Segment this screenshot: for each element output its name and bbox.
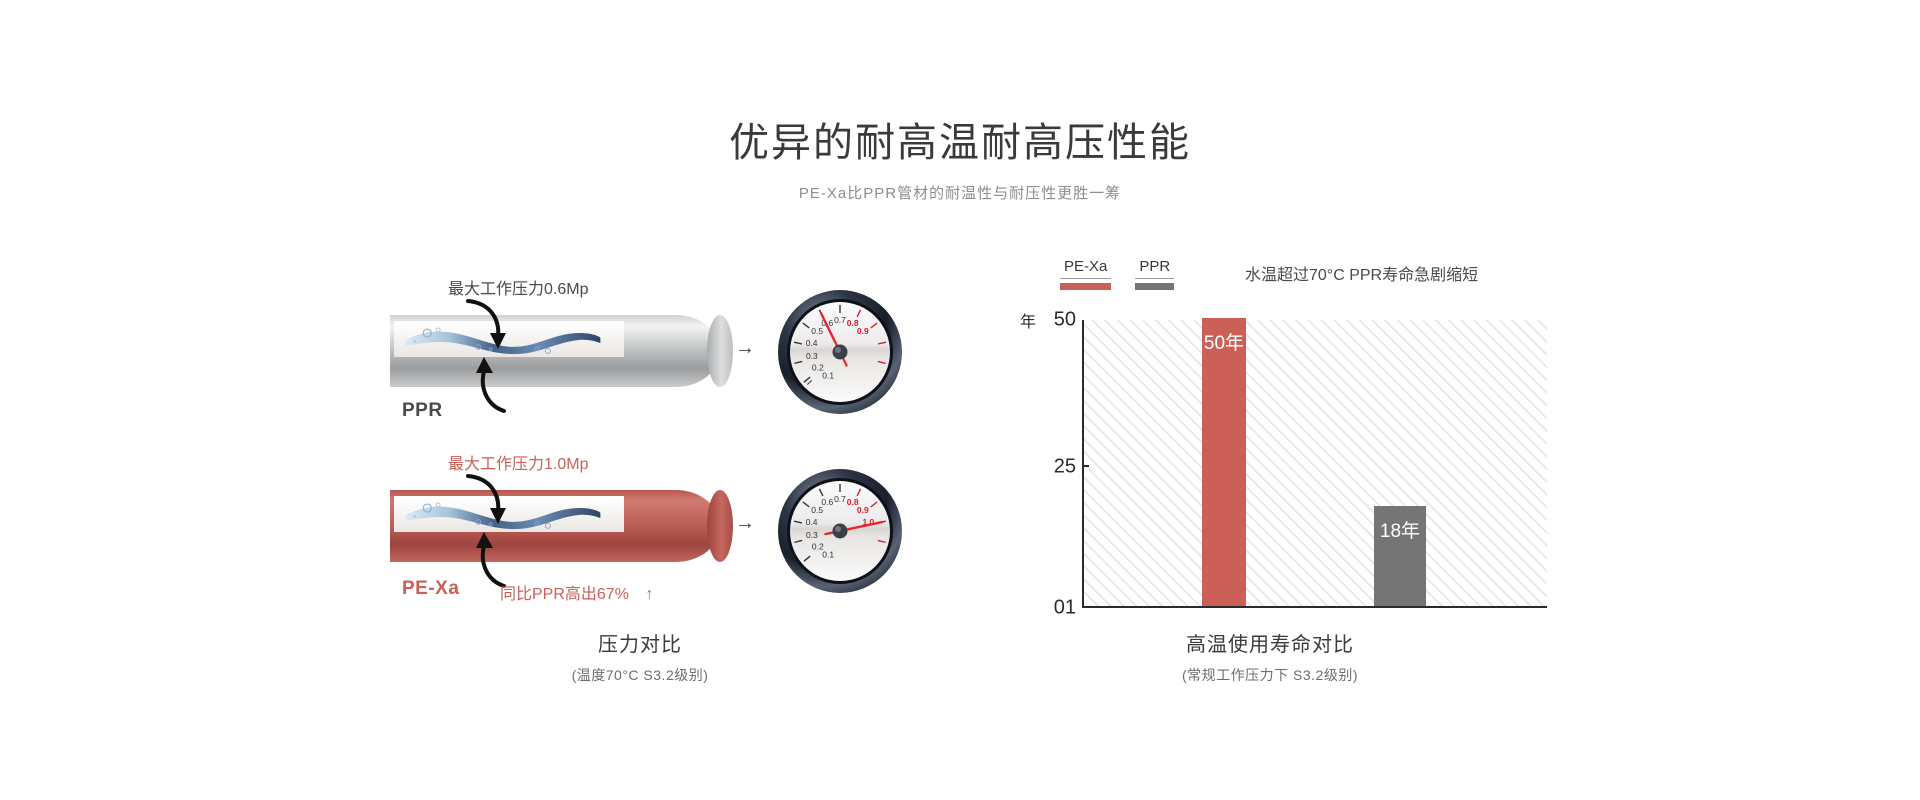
- pexa-pressure-gauge: 0.1 0.2 0.3 0.4 0.5 0.6 0.7 0.8 0.9 1.0: [775, 466, 905, 596]
- legend-label-ppr: PPR: [1135, 258, 1174, 279]
- y-tick-25: 25: [1054, 456, 1076, 479]
- ppr-bottom-arrow-icon: [468, 353, 528, 415]
- ppr-flow-arrow-icon: →: [735, 337, 755, 360]
- bar-pexa[interactable]: 50年: [1202, 318, 1246, 606]
- svg-text:0.3: 0.3: [806, 530, 818, 540]
- svg-text:0.7: 0.7: [834, 315, 846, 325]
- bar-value-pexa: 50年: [1202, 328, 1246, 355]
- y-axis: 年 50 25 01: [1020, 320, 1076, 608]
- ppr-top-arrow-icon: [460, 297, 520, 357]
- svg-text:0.1: 0.1: [822, 370, 834, 380]
- legend-label-pexa: PE-Xa: [1060, 258, 1111, 279]
- pexa-top-arrow-icon: [460, 472, 520, 532]
- up-arrow-icon: ↑: [645, 586, 653, 603]
- pexa-pressure-callout: 最大工作压力1.0Mp: [448, 450, 588, 474]
- ppr-pipe-block: 最大工作压力0.6Mp: [360, 275, 920, 455]
- right-caption-sub: (常规工作压力下 S3.2级别): [1050, 665, 1490, 685]
- right-caption-title: 高温使用寿命对比: [1050, 628, 1490, 657]
- pexa-pipe-block: 最大工作压力1.0Mp: [360, 450, 920, 630]
- svg-text:0.6: 0.6: [821, 497, 833, 507]
- ppr-pipe-label: PPR: [402, 400, 443, 422]
- legend-swatch-pexa: [1060, 283, 1111, 290]
- left-caption-sub: (温度70°C S3.2级别): [420, 665, 860, 685]
- pexa-advantage-label: 同比PPR高出67%: [500, 586, 629, 603]
- page-subtitle: PE-Xa比PPR管材的耐温性与耐压性更胜一筹: [0, 182, 1920, 203]
- svg-text:0.9: 0.9: [857, 326, 869, 336]
- chart-plot-area: 50年 18年: [1082, 320, 1547, 608]
- left-caption-title: 压力对比: [420, 628, 860, 657]
- y-tick-01: 01: [1054, 597, 1076, 620]
- poster-root: 优异的耐高温耐高压性能 PE-Xa比PPR管材的耐温性与耐压性更胜一筹 最大工作…: [0, 0, 1920, 800]
- pexa-pipe-label: PE-Xa: [402, 578, 459, 600]
- svg-text:0.7: 0.7: [834, 494, 846, 504]
- bar-value-ppr: 18年: [1374, 516, 1426, 543]
- ppr-pipe-cap: [707, 315, 733, 387]
- svg-text:0.9: 0.9: [857, 505, 869, 515]
- legend-swatch-ppr: [1135, 283, 1174, 290]
- chart-legend: PE-Xa PPR: [1060, 258, 1174, 290]
- svg-text:0.1: 0.1: [822, 549, 834, 559]
- pexa-pipe-cap: [707, 490, 733, 562]
- y-tick-mark-25: [1082, 465, 1089, 467]
- ppr-pressure-callout: 最大工作压力0.6Mp: [448, 275, 588, 299]
- svg-text:0.3: 0.3: [806, 351, 818, 361]
- y-tick-50: 50: [1054, 309, 1076, 332]
- chart-annotation: 水温超过70°C PPR寿命急剧缩短: [1245, 261, 1478, 285]
- y-axis-unit-label: 年: [1020, 308, 1036, 332]
- ppr-pressure-gauge: 0.2 0.3 0.4 0.5 0.6 0.7 0.8 0.9 0.1: [775, 287, 905, 417]
- svg-text:0.4: 0.4: [806, 338, 818, 348]
- svg-text:0.2: 0.2: [812, 542, 824, 552]
- pexa-advantage-text: 同比PPR高出67% ↑: [500, 580, 653, 604]
- legend-item-ppr: PPR: [1135, 258, 1174, 290]
- left-caption: 压力对比 (温度70°C S3.2级别): [420, 628, 860, 685]
- pexa-flow-arrow-icon: →: [735, 512, 755, 535]
- svg-text:0.4: 0.4: [806, 517, 818, 527]
- legend-item-pexa: PE-Xa: [1060, 258, 1111, 290]
- page-title: 优异的耐高温耐高压性能: [0, 118, 1920, 168]
- header: 优异的耐高温耐高压性能 PE-Xa比PPR管材的耐温性与耐压性更胜一筹: [0, 118, 1920, 203]
- right-caption: 高温使用寿命对比 (常规工作压力下 S3.2级别): [1050, 628, 1490, 685]
- bar-ppr[interactable]: 18年: [1374, 506, 1426, 606]
